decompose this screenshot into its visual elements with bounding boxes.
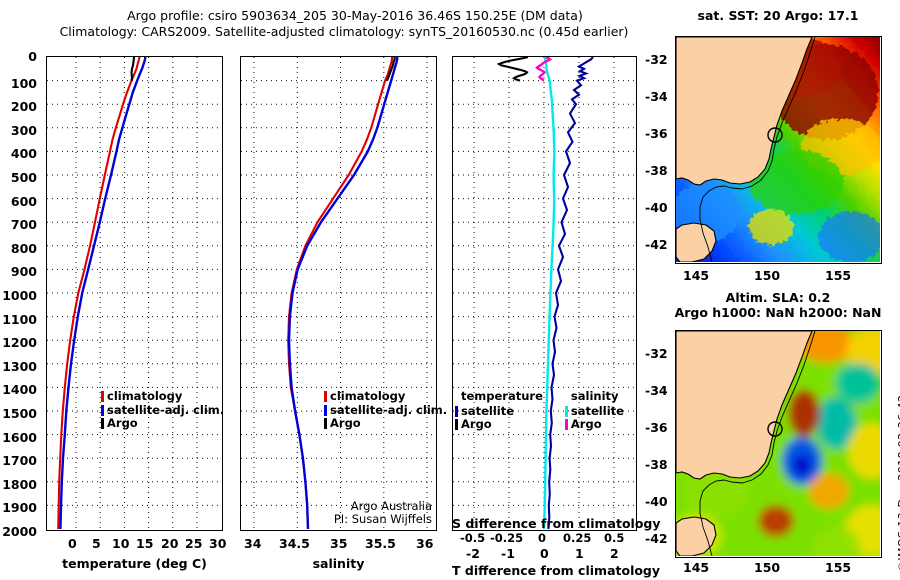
legend-swatch-climatology — [101, 391, 104, 402]
legend-label-sal-satellite: satellite — [571, 405, 624, 419]
sst-xtick-145: 145 — [683, 268, 709, 283]
salinity-legend: climatology satellite-adj. clim. Argo — [324, 390, 447, 431]
page-title-line1: Argo profile: csiro 5903634_205 30-May-2… — [30, 8, 680, 23]
legend-swatch-sal-satellite — [565, 406, 568, 417]
temp-xtick-0: 0 — [68, 536, 77, 551]
legend-swatch-argo — [101, 418, 104, 429]
sst-map-title: sat. SST: 20 Argo: 17.1 — [672, 8, 884, 23]
difference-legend-temperature-column: temperature satellite Argo — [455, 390, 543, 432]
legend-header-salinity: salinity — [565, 390, 624, 404]
legend-item-climatology: climatology — [101, 390, 224, 404]
sst-ytick--36: -36 — [645, 126, 668, 141]
legend-item-argo: Argo — [101, 417, 224, 431]
legend-swatch-temp-satellite — [455, 406, 458, 417]
tdiff-xtick--1: -1 — [501, 546, 515, 561]
sst-map-canvas — [676, 37, 880, 262]
imos-watermark: ©IMOS 13-Dec-2018 02:36:42 — [896, 395, 900, 572]
sst-ytick--34: -34 — [645, 89, 668, 104]
attribution-line2: PI: Susan Wijffels — [300, 513, 432, 526]
temperature-plot-area — [47, 57, 221, 529]
sdiff-xtick--0.25: -0.25 — [490, 531, 523, 545]
temperature-legend: climatology satellite-adj. clim. Argo — [101, 390, 224, 431]
sal-xtick-34.5: 34.5 — [279, 536, 310, 551]
legend-swatch-climatology-sal — [324, 391, 327, 402]
gridlines-salinity — [241, 57, 435, 529]
sla-ytick--40: -40 — [645, 494, 668, 509]
temp-xtick-30: 30 — [209, 536, 226, 551]
sla-ytick--38: -38 — [645, 457, 668, 472]
legend-item-temp-satellite: satellite — [455, 405, 543, 419]
legend-swatch-argo-sal — [324, 418, 327, 429]
sal-xtick-36: 36 — [416, 536, 433, 551]
legend-item-temp-argo: Argo — [455, 418, 543, 432]
t-difference-axis-label: T difference from climatology — [452, 563, 637, 578]
sdiff-xtick-0.25: 0.25 — [563, 531, 591, 545]
legend-item-argo-sal: Argo — [324, 417, 447, 431]
sal-xtick-35.5: 35.5 — [365, 536, 396, 551]
sst-xtick-150: 150 — [754, 268, 780, 283]
temp-xtick-25: 25 — [185, 536, 202, 551]
tdiff-xtick-1: 1 — [575, 546, 584, 561]
sal-xtick-35: 35 — [330, 536, 347, 551]
temperature-profile-panel — [46, 56, 223, 531]
temp-xtick-10: 10 — [112, 536, 129, 551]
salinity-axis-label: salinity — [240, 556, 437, 571]
gridlines-temperature — [47, 57, 221, 529]
legend-label-sal-argo: Argo — [571, 418, 602, 432]
temp-xtick-5: 5 — [92, 536, 101, 551]
temp-satellite-diff-line — [548, 57, 593, 529]
salinity-satellite-adj-line — [289, 57, 397, 529]
sdiff-xtick-0.5: 0.5 — [604, 531, 624, 545]
sst-map[interactable] — [675, 36, 882, 264]
sla-xtick-150: 150 — [754, 560, 780, 575]
sla-ytick--42: -42 — [645, 531, 668, 546]
sla-xtick-155: 155 — [825, 560, 851, 575]
gridlines-difference — [453, 57, 635, 529]
legend-swatch-satellite-adj-sal — [324, 405, 327, 416]
sst-ytick--32: -32 — [645, 52, 668, 67]
sla-map-title-line1: Altim. SLA: 0.2 — [672, 290, 884, 305]
legend-label-temp-satellite: satellite — [461, 405, 514, 419]
legend-label-argo-sal: Argo — [330, 417, 361, 431]
legend-label-climatology: climatology — [107, 390, 182, 404]
legend-swatch-satellite-adj — [101, 405, 104, 416]
sdiff-xtick-0: 0 — [538, 531, 546, 545]
legend-label-satellite-adj-sal: satellite-adj. clim. — [330, 404, 447, 418]
sst-xtick-155: 155 — [825, 268, 851, 283]
sla-map-title-line2: Argo h1000: NaN h2000: NaN — [662, 305, 894, 320]
temp-argo-diff-line — [499, 57, 528, 81]
legend-label-satellite-adj: satellite-adj. clim. — [107, 404, 224, 418]
legend-swatch-temp-argo — [455, 419, 458, 430]
legend-item-sal-satellite: satellite — [565, 405, 624, 419]
difference-plot-area — [453, 57, 635, 529]
legend-item-climatology-sal: climatology — [324, 390, 447, 404]
legend-label-temp-argo: Argo — [461, 418, 492, 432]
difference-legend: temperature satellite Argo salinity sate… — [455, 390, 635, 432]
sst-ytick--38: -38 — [645, 163, 668, 178]
legend-header-temperature: temperature — [455, 390, 543, 404]
sla-ytick--36: -36 — [645, 420, 668, 435]
temp-xtick-20: 20 — [161, 536, 178, 551]
legend-swatch-sal-argo — [565, 419, 568, 430]
legend-label-argo: Argo — [107, 417, 138, 431]
sla-map[interactable] — [675, 330, 882, 558]
salinity-plot-area — [241, 57, 435, 529]
difference-profile-panel — [452, 56, 637, 531]
legend-item-satellite-adj: satellite-adj. clim. — [101, 404, 224, 418]
legend-label-climatology-sal: climatology — [330, 390, 405, 404]
legend-item-satellite-adj-sal: satellite-adj. clim. — [324, 404, 447, 418]
tdiff-xtick--2: -2 — [466, 546, 480, 561]
tdiff-xtick-2: 2 — [610, 546, 619, 561]
sla-xtick-145: 145 — [683, 560, 709, 575]
tdiff-xtick-0: 0 — [540, 546, 549, 561]
sla-map-canvas — [676, 331, 880, 556]
sla-ytick--34: -34 — [645, 383, 668, 398]
sst-ytick--40: -40 — [645, 200, 668, 215]
difference-legend-salinity-column: salinity satellite Argo — [565, 390, 624, 432]
sla-ytick--32: -32 — [645, 346, 668, 361]
depth-axis-labels-panel1: 0 100 200 300 400 500 600 700 800 900 10… — [0, 48, 42, 543]
legend-item-sal-argo: Argo — [565, 418, 624, 432]
temp-xtick-15: 15 — [136, 536, 153, 551]
sal-xtick-34: 34 — [244, 536, 261, 551]
sst-ytick--42: -42 — [645, 237, 668, 252]
page-title-line2: Climatology: CARS2009. Satellite-adjuste… — [8, 24, 680, 39]
temperature-axis-label: temperature (deg C) — [46, 556, 223, 571]
sdiff-xtick--0.5: -0.5 — [460, 531, 485, 545]
attribution-text: Argo Australia PI: Susan Wijffels — [300, 500, 432, 526]
salinity-profile-panel — [240, 56, 437, 531]
s-difference-axis-label: S difference from climatology — [452, 516, 637, 531]
